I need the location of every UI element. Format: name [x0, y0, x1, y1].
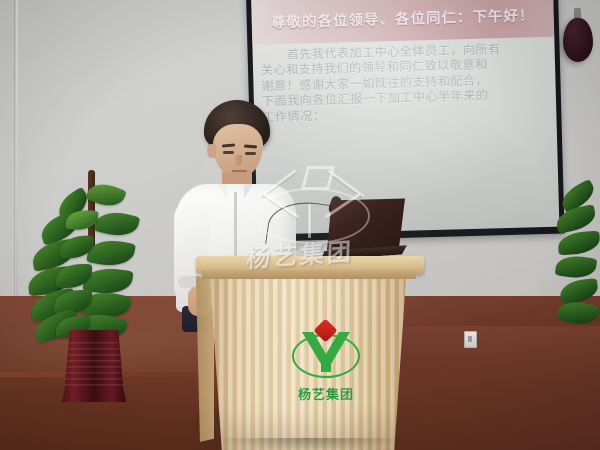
leaf: [559, 278, 599, 304]
wall-seam-shadow: [14, 0, 15, 300]
company-logo: 杨艺集团: [290, 322, 362, 414]
presentation-room-photo: 尊敬的各位领导、各位同仁：下午好！ 首先我代表加工中心全体员工，向所有 关心和支…: [0, 0, 600, 450]
laptop-screen: [327, 195, 405, 254]
leaf: [94, 207, 141, 240]
wall-speaker-icon: [563, 18, 593, 62]
presenter-collar-left: [218, 184, 227, 199]
presenter-nose: [235, 155, 242, 166]
slide-title-band: 尊敬的各位领导、各位同仁：下午好！: [251, 0, 554, 45]
presenter-collar-right: [244, 184, 253, 199]
leaf: [554, 204, 598, 234]
presenter-eye-right: [245, 152, 256, 155]
podium-front-panel: 杨艺集团: [210, 278, 406, 450]
plant-pot-rings: [62, 342, 126, 390]
wall-power-outlet: [464, 331, 477, 348]
logo-company-name: 杨艺集团: [290, 384, 362, 403]
presenter-ear: [207, 144, 216, 158]
presenter-eye-left: [223, 151, 234, 154]
podium-ground-shadow: [214, 438, 406, 450]
speaker-podium: 杨艺集团: [196, 256, 424, 450]
podium-top-edge: [202, 270, 416, 279]
laptop-on-podium: [327, 195, 405, 262]
leaf: [557, 231, 600, 256]
wall-seam: [16, 0, 18, 300]
slide-title: 尊敬的各位领导、各位同仁：下午好！: [271, 4, 535, 32]
podium-side-panel: [196, 276, 214, 442]
potted-plant-right: [556, 186, 600, 336]
potted-plant-left: [26, 170, 166, 400]
leaf: [555, 253, 598, 280]
